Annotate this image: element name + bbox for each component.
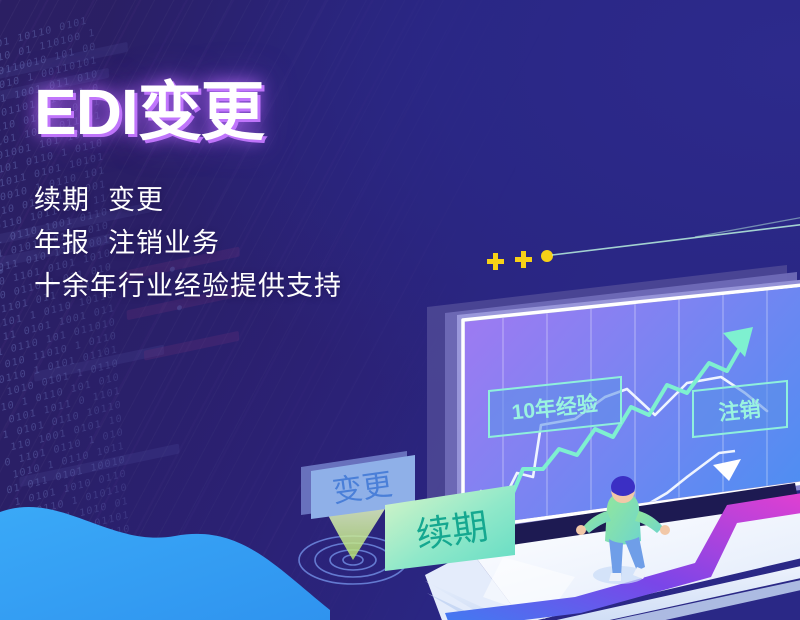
cancel-badge-label: 注销 <box>718 397 762 425</box>
subtitle-part: 注销业务 <box>108 228 220 258</box>
subtitle-part: 续期 <box>34 185 90 215</box>
promo-banner: 01001 10110 0101 1010 01 110100 1 01 011… <box>0 0 800 620</box>
subtitle-part: 年报 <box>34 228 90 258</box>
cancel-badge: 注销 <box>693 381 787 437</box>
illustration: 10年经验 注销 <box>275 215 800 620</box>
decoration-dot <box>541 250 553 262</box>
decoration-plus-marks <box>487 215 800 270</box>
page-title: EDI变更 <box>34 80 504 145</box>
subtitle-part: 变更 <box>108 185 164 215</box>
